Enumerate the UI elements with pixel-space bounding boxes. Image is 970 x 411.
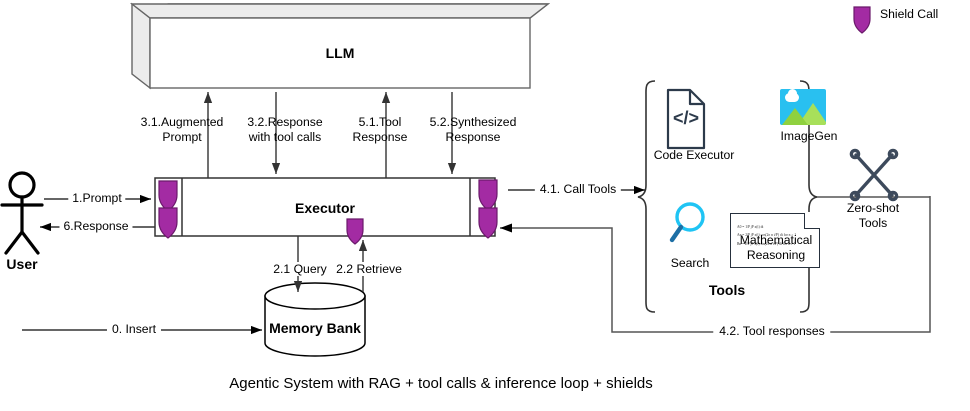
label-prompt: 1.Prompt <box>68 191 125 205</box>
tool-label-zero-shot-tools: Zero-shot Tools <box>847 201 899 231</box>
tool-label-zeroshot-line1: Zero-shot <box>847 201 899 216</box>
tool-label-zeroshot-line2: Tools <box>847 216 899 231</box>
label-tool-response-line1: 5.1.Tool <box>353 115 408 130</box>
label-augmented-prompt: 3.1.Augmented Prompt <box>141 115 224 145</box>
label-call-tools: 4.1. Call Tools <box>535 182 621 196</box>
tool-label-math-line1: Mathematical <box>740 233 812 248</box>
label-response-tool-calls-line2: with tool calls <box>247 130 322 145</box>
label-augmented-prompt-line2: Prompt <box>141 130 224 145</box>
label-response: 6.Response <box>59 219 132 233</box>
image-gen-icon <box>780 89 826 125</box>
diagram-caption: Agentic System with RAG + tool calls & i… <box>229 375 653 392</box>
memory-bank-label: Memory Bank <box>269 320 361 336</box>
label-synthesized-response: 5.2.Synthesized Response <box>430 115 517 145</box>
label-tool-responses: 4.2. Tool responses <box>713 324 830 338</box>
shield-executor-memory <box>347 219 363 244</box>
mountain-front-shape <box>782 108 808 125</box>
label-tool-response: 5.1.Tool Response <box>353 115 408 145</box>
tool-label-code-executor: Code Executor <box>654 148 735 162</box>
shield-call-legend-label: Shield Call <box>880 7 938 21</box>
tool-label-math-line2: Reasoning <box>740 248 812 263</box>
llm-label: LLM <box>326 45 355 61</box>
label-tool-response-line2: Response <box>353 130 408 145</box>
user-actor <box>2 173 42 253</box>
label-query: 2.1 Query <box>270 262 330 276</box>
label-response-tool-calls-line1: 3.2.Response <box>247 115 322 130</box>
label-retrieve: 2.2 Retrieve <box>333 262 405 276</box>
tool-label-mathematical-reasoning: Mathematical Reasoning <box>740 233 812 263</box>
executor-label: Executor <box>295 200 355 216</box>
tool-label-search: Search <box>671 256 710 270</box>
label-synthesized-response-line2: Response <box>430 130 517 145</box>
tool-label-image-gen: ImageGen <box>781 129 838 143</box>
page-fold-shape <box>804 213 820 229</box>
label-synthesized-response-line1: 5.2.Synthesized <box>430 115 517 130</box>
math-formula-0: A0 = 1/P ∫P x(t) dt <box>737 223 796 231</box>
magnifier-icon <box>672 204 703 240</box>
label-insert: 0. Insert <box>107 322 161 336</box>
diagram-vector-layer <box>0 0 970 411</box>
tools-title: Tools <box>709 282 745 298</box>
crossed-wrenches-icon <box>851 150 896 199</box>
code-glyph-label: </> <box>673 108 699 129</box>
diagram-canvas: LLM Executor Memory Bank User Tools Shie… <box>0 0 970 411</box>
shield-legend-icon <box>854 7 870 33</box>
user-label: User <box>6 256 37 272</box>
label-augmented-prompt-line1: 3.1.Augmented <box>141 115 224 130</box>
cloud-shape <box>785 93 799 102</box>
label-response-tool-calls: 3.2.Response with tool calls <box>247 115 322 145</box>
